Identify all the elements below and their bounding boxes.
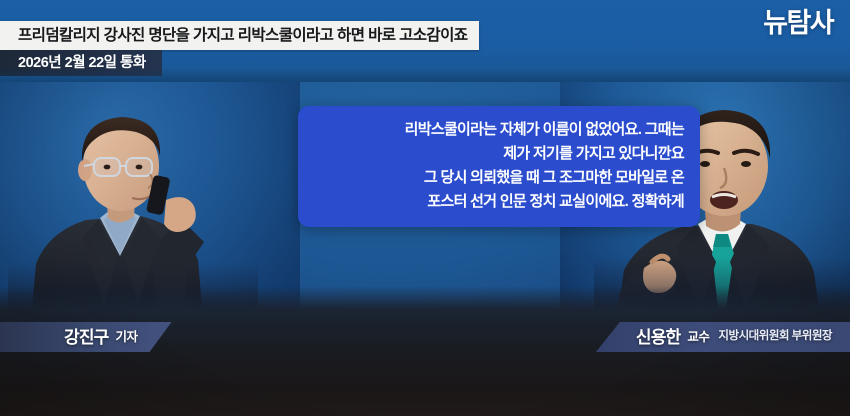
right-speaker-nameplate: 신용한 교수 지방시대위원회 부위원장 bbox=[596, 322, 850, 352]
subtitle-line-1: 리박스쿨이라는 자체가 이름이 없었어요. 그때는 bbox=[314, 118, 684, 142]
headline-text: 프리덤칼리지 강사진 명단을 가지고 리박스쿨이라고 하면 바로 고소감이죠 bbox=[18, 28, 467, 44]
date-badge: 2026년 2월 22일 통화 bbox=[0, 50, 162, 76]
date-badge-text: 2026년 2월 22일 통화 bbox=[18, 56, 146, 71]
subtitle-line-2: 제가 저기를 가지고 있다니깐요 bbox=[314, 142, 684, 166]
right-speaker-org: 지방시대위원회 부위원장 bbox=[718, 331, 832, 343]
left-speaker-role: 기자 bbox=[116, 331, 138, 344]
header-band: 프리덤칼리지 강사진 명단을 가지고 리박스쿨이라고 하면 바로 고소감이죠 2… bbox=[0, 0, 850, 82]
right-speaker-name: 신용한 bbox=[636, 329, 681, 346]
subtitle-line-4: 포스터 선거 인문 정치 교실이에요. 정확하게 bbox=[314, 190, 684, 214]
subtitle-line-3: 그 당시 의뢰했을 때 그 조그마한 모바일로 온 bbox=[314, 166, 684, 190]
broadcast-news-frame: 프리덤칼리지 강사진 명단을 가지고 리박스쿨이라고 하면 바로 고소감이죠 2… bbox=[0, 0, 850, 416]
subtitle-bubble: 리박스쿨이라는 자체가 이름이 없었어요. 그때는 제가 저기를 가지고 있다니… bbox=[298, 106, 700, 227]
right-speaker-role: 교수 bbox=[687, 331, 709, 344]
left-speaker-name: 강진구 bbox=[64, 329, 109, 346]
headline-bar: 프리덤칼리지 강사진 명단을 가지고 리박스쿨이라고 하면 바로 고소감이죠 bbox=[0, 21, 479, 50]
left-speaker-nameplate: 강진구 기자 bbox=[0, 322, 172, 352]
channel-logo: 뉴탐사 bbox=[763, 10, 833, 37]
